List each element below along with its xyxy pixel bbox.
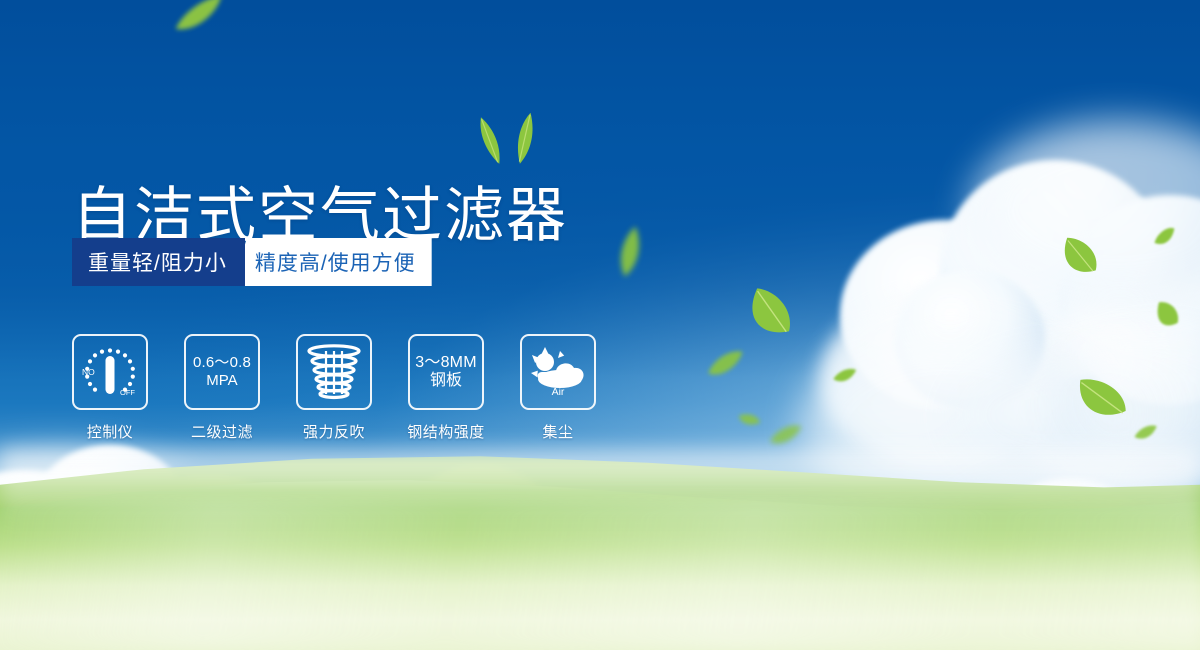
subtitle-right-badge: 精度高/使用方便 — [233, 238, 432, 286]
gauge-dial-icon: NO OFF — [72, 334, 148, 410]
steel-thickness: 3～8MM — [415, 354, 476, 372]
svg-text:Air: Air — [552, 386, 565, 398]
pressure-text-icon: 0.6～0.8 MPA — [184, 334, 260, 410]
feature-label: 集尘 — [542, 421, 573, 442]
svg-text:OFF: OFF — [120, 388, 135, 397]
product-banner: 自洁式空气过滤器 重量轻/阻力小 精度高/使用方便 — [0, 0, 1200, 650]
pressure-unit: MPA — [206, 372, 237, 389]
pressure-value: 0.6～0.8 — [193, 355, 251, 372]
subtitle-left-badge: 重量轻/阻力小 — [72, 238, 245, 286]
svg-text:NO: NO — [82, 367, 95, 377]
feature-label: 钢结构强度 — [407, 421, 485, 442]
cloud-air-icon: Air — [520, 334, 596, 410]
feature-label: 二级过滤 — [191, 421, 253, 442]
subtitle-bar: 重量轻/阻力小 精度高/使用方便 — [72, 238, 462, 286]
coil-spiral-icon — [296, 334, 372, 410]
feature-list: NO OFF 控制仪 0.6～0.8 MPA 二级过滤 — [72, 334, 632, 442]
feature-item-secondary-filter[interactable]: 0.6～0.8 MPA 二级过滤 — [184, 334, 260, 442]
feature-label: 强力反吹 — [303, 421, 365, 442]
feature-item-dust-collection[interactable]: Air 集尘 — [520, 334, 596, 442]
steel-material: 钢板 — [430, 372, 462, 390]
feature-item-steel-strength[interactable]: 3～8MM 钢板 钢结构强度 — [408, 334, 484, 442]
feature-item-control-gauge[interactable]: NO OFF 控制仪 — [72, 334, 148, 442]
banner-content: 自洁式空气过滤器 重量轻/阻力小 精度高/使用方便 — [0, 0, 1200, 650]
steel-plate-text-icon: 3～8MM 钢板 — [408, 334, 484, 410]
feature-label: 控制仪 — [87, 421, 134, 442]
feature-item-blowback[interactable]: 强力反吹 — [296, 334, 372, 442]
